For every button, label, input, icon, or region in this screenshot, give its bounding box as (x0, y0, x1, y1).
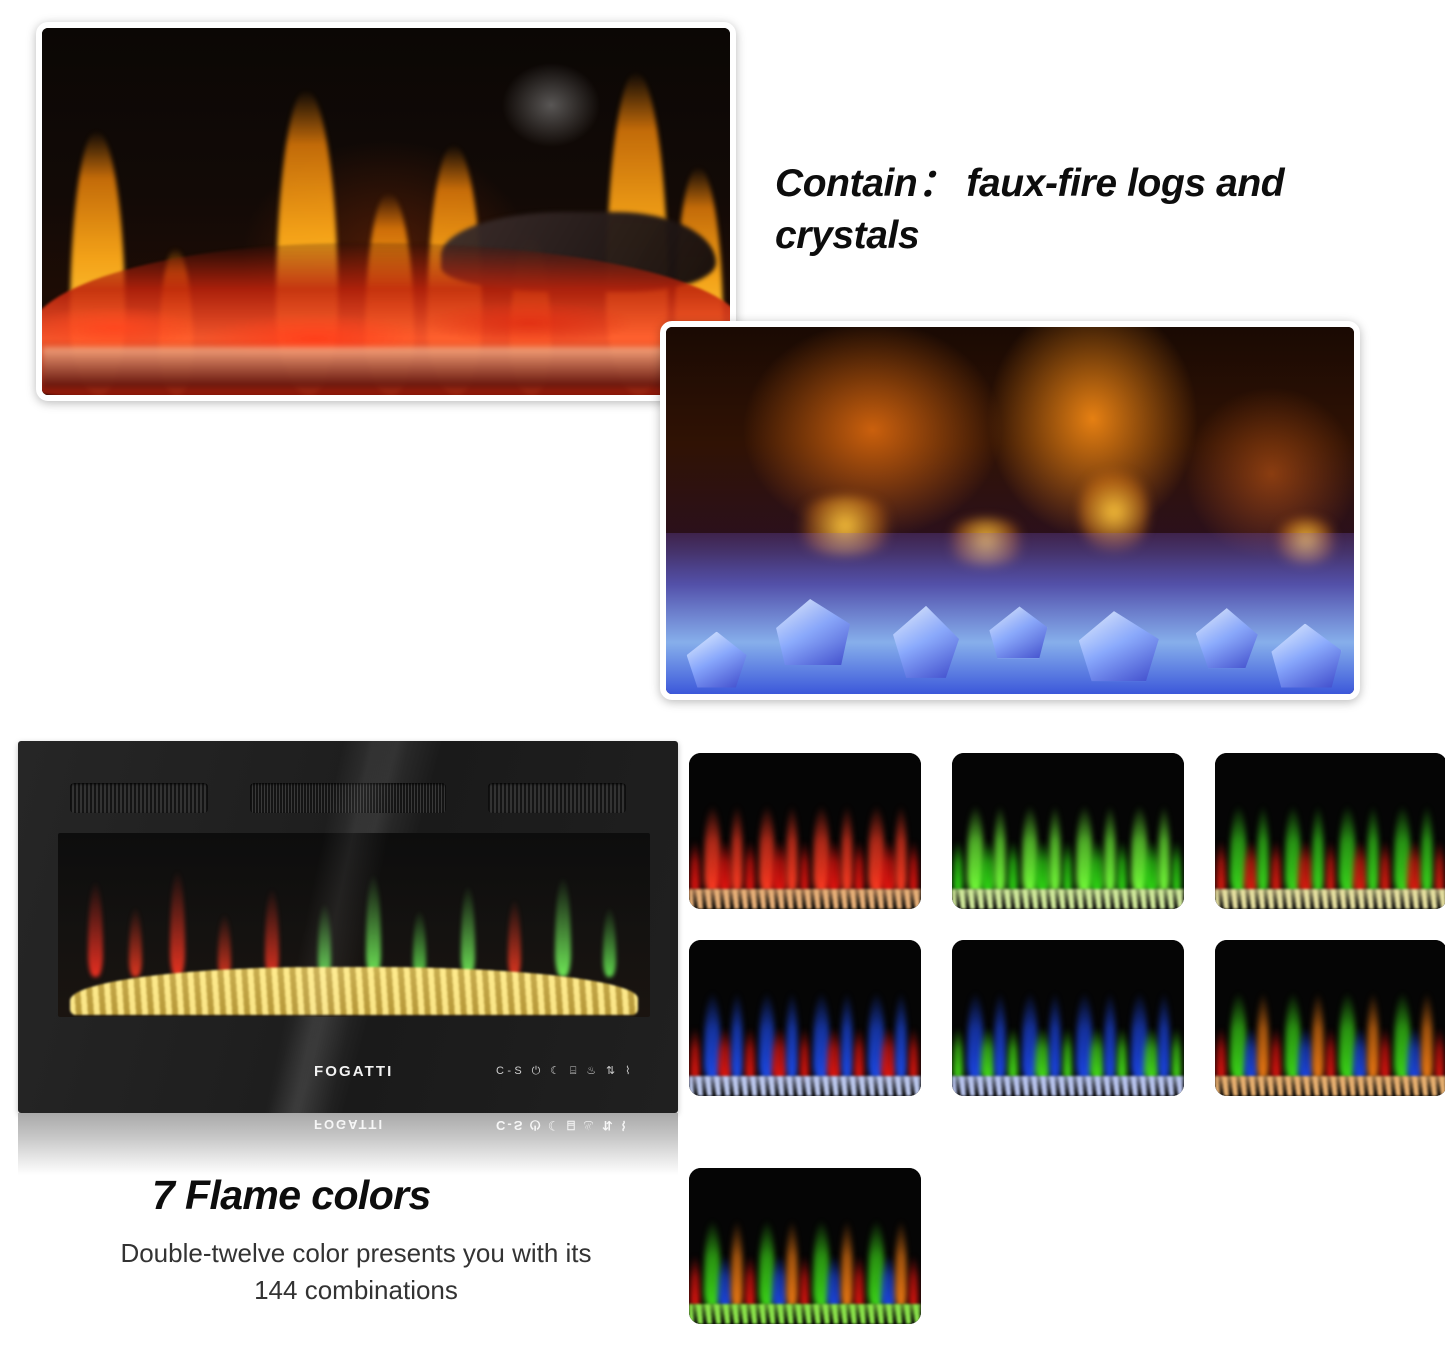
flame-shape (265, 888, 279, 976)
red-flame-swatch (689, 753, 921, 909)
flame-shape (318, 903, 331, 977)
ember-bed (952, 1076, 1184, 1096)
fireplace-unit-photo: FOGATTI C-S ⏻ ☾ ⌸ ♨ ⇅ ⌇ (18, 741, 678, 1113)
reflection-brand-logo: FOGATTI (314, 1117, 384, 1132)
crystal-shard (1079, 611, 1159, 681)
flame-shape (170, 870, 184, 977)
crystal-shard (893, 606, 959, 678)
rainbow-flame-swatch (689, 1168, 921, 1324)
right-louver-vent (488, 783, 626, 813)
flame-shape (461, 885, 475, 977)
ember-line (42, 347, 730, 387)
ember-bed (689, 1304, 921, 1324)
unit-floor-reflection: FOGATTI C-S ⏻ ☾ ⌸ ♨ ⇅ ⌇ (18, 1113, 678, 1175)
ember-bed (689, 889, 921, 909)
ember-bed (952, 889, 1184, 909)
flame-shape (218, 914, 231, 977)
ember-bed (1215, 889, 1445, 909)
firebox-window (58, 833, 650, 1017)
crystal-bed (666, 533, 1354, 694)
control-panel-icons: C-S ⏻ ☾ ⌸ ♨ ⇅ ⌇ (496, 1064, 634, 1078)
green-flame-swatch (952, 753, 1184, 909)
ember-bed (1215, 1076, 1445, 1096)
red-blue-flame-swatch (689, 940, 921, 1096)
crystal-shard (776, 599, 850, 665)
flame-colors-subtitle: Double-twelve color presents you with it… (106, 1235, 606, 1309)
fogatti-brand-logo: FOGATTI (314, 1063, 393, 1080)
flame-shape (88, 881, 103, 977)
contain-heading: Contain： faux-fire logs and crystals (775, 158, 1375, 262)
crystal-shard (687, 632, 747, 688)
reflection-control-icons: C-S ⏻ ☾ ⌸ ♨ ⇅ ⌇ (496, 1117, 629, 1133)
flame-shape (555, 877, 570, 976)
flame-shape (508, 899, 521, 976)
center-mesh-vent (250, 783, 446, 813)
crystal-shard (1271, 624, 1341, 688)
red-green-flame-swatch (1215, 753, 1445, 909)
faux-fire-logs-photo (36, 22, 736, 401)
multicolor-flame-swatch (1215, 940, 1445, 1096)
flame-colors-heading: 7 Flame colors (152, 1172, 431, 1219)
flame-shape (603, 907, 616, 977)
flame-shape (366, 874, 381, 977)
control-panel-row: FOGATTI C-S ⏻ ☾ ⌸ ♨ ⇅ ⌇ (18, 1061, 678, 1087)
left-louver-vent (70, 783, 208, 813)
crystal-shard (1196, 608, 1258, 668)
green-blue-flame-swatch (952, 940, 1184, 1096)
ember-log-bed (70, 967, 638, 1015)
flame-shape (129, 907, 142, 977)
crystals-photo (660, 321, 1360, 700)
ember-bed (689, 1076, 921, 1096)
crystal-shard (989, 606, 1047, 658)
